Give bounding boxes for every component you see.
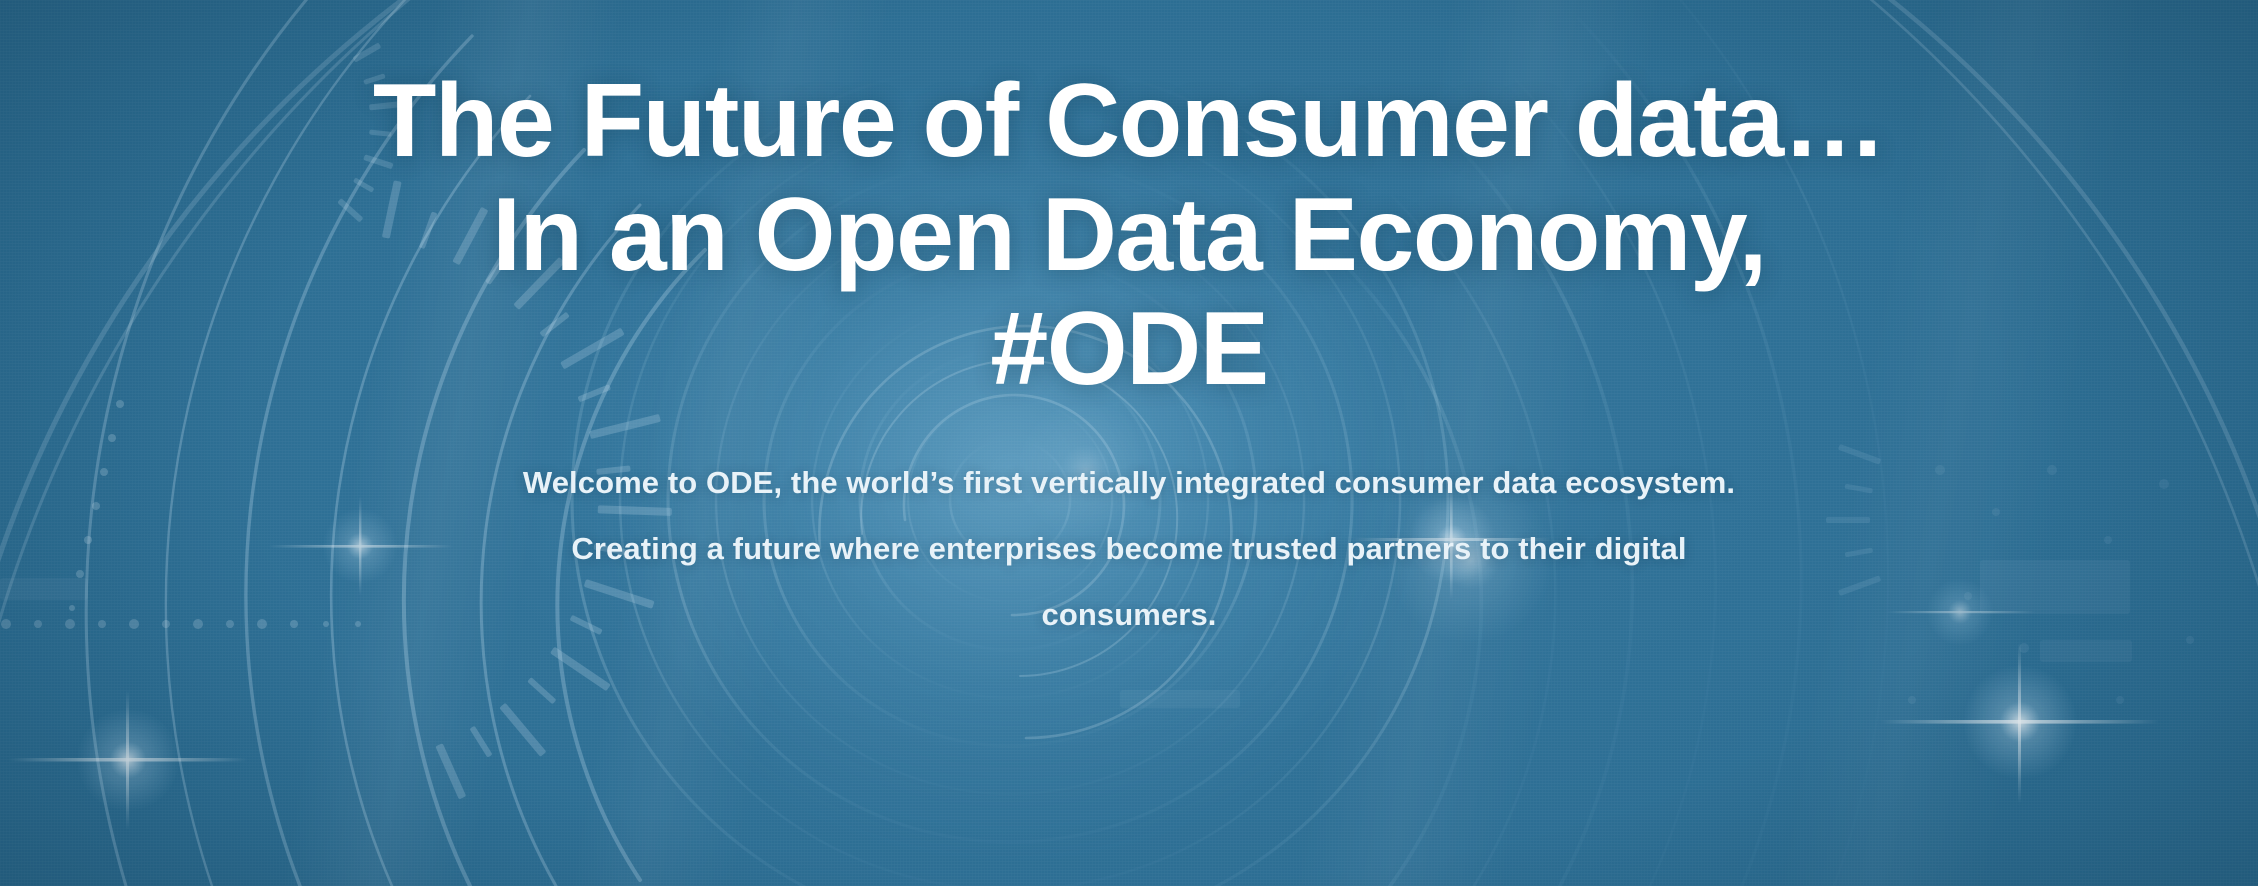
subtitle-line-1: Welcome to ODE, the world’s first vertic… xyxy=(523,450,1735,516)
headline-line-2: In an Open Data Economy, xyxy=(373,178,1885,292)
hero-banner: The Future of Consumer data… In an Open … xyxy=(0,0,2258,886)
subtitle-line-3: consumers. xyxy=(523,582,1735,648)
subtitle-line-2: Creating a future where enterprises beco… xyxy=(523,516,1735,582)
hero-subtitle: Welcome to ODE, the world’s first vertic… xyxy=(523,450,1735,648)
hero-headline: The Future of Consumer data… In an Open … xyxy=(373,64,1885,406)
headline-line-3: #ODE xyxy=(373,292,1885,406)
headline-line-1: The Future of Consumer data… xyxy=(373,64,1885,178)
hero-content: The Future of Consumer data… In an Open … xyxy=(0,0,2258,886)
